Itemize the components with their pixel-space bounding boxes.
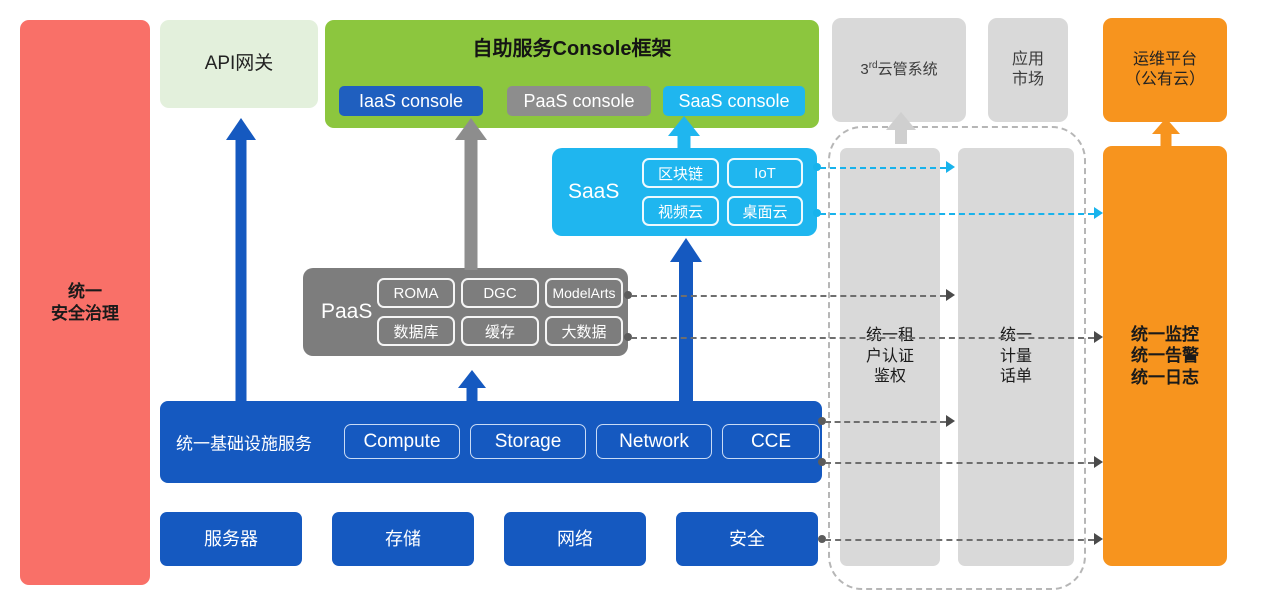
- saas-layer-label: SaaS: [568, 180, 619, 204]
- ops-panel-line2: 统一告警: [1131, 345, 1199, 366]
- connector-saas-row2: [820, 213, 1094, 215]
- arrow-to-ops-platform: [1152, 118, 1180, 148]
- app-market-line2: 市场: [1012, 70, 1044, 90]
- ops-panel-line3: 统一日志: [1131, 367, 1199, 388]
- auth-line2: 户认证: [866, 347, 914, 368]
- self-service-console-framework: 自助服务Console框架 IaaS console PaaS console …: [325, 20, 819, 128]
- connector-paas-row1: [631, 295, 946, 297]
- connector-paas-row2: [631, 337, 1094, 339]
- ops-platform-line2: （公有云）: [1125, 70, 1205, 90]
- unified-infrastructure-label: 统一基础设施服务: [176, 430, 312, 455]
- hardware-box-network[interactable]: 网络: [504, 512, 646, 566]
- ops-panel-line1: 统一监控: [1131, 324, 1199, 345]
- ops-platform-header-label: 运维平台 （公有云）: [1125, 50, 1205, 90]
- ops-platform-header-box[interactable]: 运维平台 （公有云）: [1103, 18, 1227, 122]
- infra-chip-cce[interactable]: CCE: [722, 424, 820, 459]
- connector-arrowhead-paas-2: [1094, 331, 1103, 343]
- unified-metering-billing-label: 统一 计量 话单: [1000, 326, 1032, 388]
- unified-tenant-auth-label: 统一租 户认证 鉴权: [866, 326, 914, 388]
- connector-infra-row1: [825, 421, 946, 423]
- arrow-infra-to-api-gateway: [226, 118, 256, 403]
- unified-monitoring-panel[interactable]: 统一监控 统一告警 统一日志: [1103, 146, 1227, 566]
- hardware-box-storage[interactable]: 存储: [332, 512, 474, 566]
- paas-chip-modelarts[interactable]: ModelArts: [545, 278, 623, 308]
- saas-chip-video-cloud[interactable]: 视频云: [642, 196, 719, 226]
- billing-line2: 计量: [1000, 347, 1032, 368]
- paas-layer-label: PaaS: [321, 300, 372, 324]
- hardware-box-server[interactable]: 服务器: [160, 512, 302, 566]
- arrow-saas-to-console: [668, 116, 700, 152]
- arrow-paas-to-console: [455, 118, 487, 270]
- infra-chip-compute[interactable]: Compute: [344, 424, 460, 459]
- paas-layer-box: PaaS ROMA DGC ModelArts 数据库 缓存 大数据: [303, 268, 628, 356]
- third-party-prefix: 3: [860, 61, 868, 78]
- saas-console-chip[interactable]: SaaS console: [663, 86, 805, 116]
- infra-chip-network[interactable]: Network: [596, 424, 712, 459]
- saas-chip-iot[interactable]: IoT: [727, 158, 803, 188]
- connector-hardware-row: [825, 539, 1094, 541]
- billing-line3: 话单: [1000, 367, 1032, 388]
- paas-chip-roma[interactable]: ROMA: [377, 278, 455, 308]
- infra-chip-storage[interactable]: Storage: [470, 424, 586, 459]
- hardware-box-security[interactable]: 安全: [676, 512, 818, 566]
- unified-monitoring-label: 统一监控 统一告警 统一日志: [1131, 324, 1199, 388]
- architecture-diagram: 统一 安全治理 API网关 自助服务Console框架 IaaS console…: [0, 0, 1265, 605]
- arrow-to-third-party-cloud: [886, 112, 916, 144]
- api-gateway-label: API网关: [205, 52, 274, 76]
- app-market-box[interactable]: 应用 市场: [988, 18, 1068, 122]
- connector-arrowhead-paas-1: [946, 289, 955, 301]
- app-market-label: 应用 市场: [1012, 50, 1044, 90]
- unified-tenant-auth-column[interactable]: 统一租 户认证 鉴权: [840, 148, 940, 566]
- iaas-console-chip[interactable]: IaaS console: [339, 86, 483, 116]
- third-party-suffix: 云管系统: [878, 61, 938, 78]
- ops-platform-line1: 运维平台: [1125, 50, 1205, 70]
- connector-arrowhead-infra-1: [946, 415, 955, 427]
- third-party-sup: rd: [869, 60, 878, 71]
- paas-console-chip[interactable]: PaaS console: [507, 86, 651, 116]
- app-market-line1: 应用: [1012, 50, 1044, 70]
- console-framework-title: 自助服务Console框架: [325, 32, 819, 61]
- security-label-line2: 安全治理: [51, 303, 119, 324]
- security-panel-label: 统一 安全治理: [51, 281, 119, 324]
- unified-metering-billing-column[interactable]: 统一 计量 话单: [958, 148, 1074, 566]
- connector-arrowhead-saas-2: [1094, 207, 1103, 219]
- api-gateway-box[interactable]: API网关: [160, 20, 318, 108]
- third-party-label: 3rd云管系统: [860, 60, 937, 80]
- saas-chip-desktop-cloud[interactable]: 桌面云: [727, 196, 803, 226]
- paas-chip-bigdata[interactable]: 大数据: [545, 316, 623, 346]
- third-party-cloud-management-box[interactable]: 3rd云管系统: [832, 18, 966, 122]
- auth-line3: 鉴权: [866, 367, 914, 388]
- arrow-infra-to-saas: [670, 238, 702, 404]
- connector-saas-row1: [820, 167, 946, 169]
- connector-arrowhead-saas-1: [946, 161, 955, 173]
- saas-layer-box: SaaS 区块链 IoT 视频云 桌面云: [552, 148, 817, 236]
- connector-arrowhead-infra-2: [1094, 456, 1103, 468]
- security-label-line1: 统一: [51, 281, 119, 302]
- paas-chip-dgc[interactable]: DGC: [461, 278, 539, 308]
- paas-chip-database[interactable]: 数据库: [377, 316, 455, 346]
- paas-chip-cache[interactable]: 缓存: [461, 316, 539, 346]
- unified-security-governance-panel: 统一 安全治理: [20, 20, 150, 585]
- arrow-infra-to-paas: [458, 370, 486, 404]
- unified-infrastructure-services-bar: 统一基础设施服务 Compute Storage Network CCE: [160, 401, 822, 483]
- connector-arrowhead-hardware: [1094, 533, 1103, 545]
- connector-infra-row2: [825, 462, 1094, 464]
- saas-chip-blockchain[interactable]: 区块链: [642, 158, 719, 188]
